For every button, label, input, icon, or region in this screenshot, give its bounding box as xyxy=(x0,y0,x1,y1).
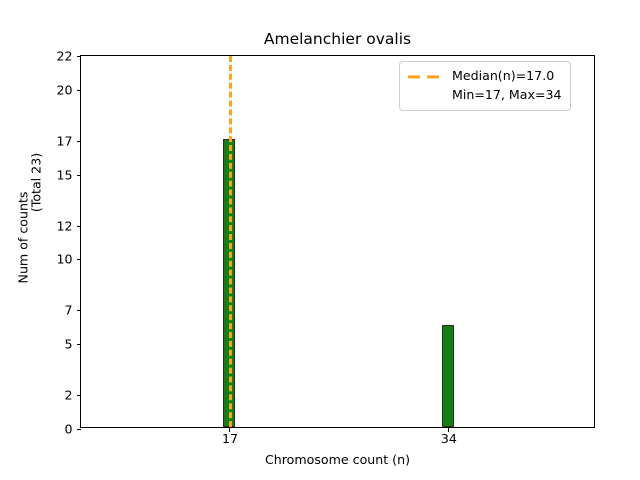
y-tick: 0 xyxy=(77,429,82,430)
legend-box[interactable]: Median(n)=17.0 Min=17, Max=34 xyxy=(399,61,571,111)
y-axis-label-total: (Total 23) xyxy=(29,93,44,273)
y-tick-label: 20 xyxy=(56,85,72,98)
y-tick: 5 xyxy=(77,344,82,345)
y-tick-label: 2 xyxy=(64,390,72,403)
y-tick: 7 xyxy=(77,310,82,311)
plot-area: 0257101215172022 1734 Median(n)=17.0 Min… xyxy=(80,55,595,428)
plot-inner xyxy=(81,56,594,427)
bar-34[interactable] xyxy=(442,325,454,427)
y-tick: 2 xyxy=(77,395,82,396)
y-tick: 10 xyxy=(77,259,82,260)
y-tick-label: 10 xyxy=(56,254,72,267)
median-line xyxy=(229,56,232,427)
x-tick-label: 34 xyxy=(441,433,457,446)
x-tick: 17 xyxy=(229,427,230,432)
y-tick-label: 15 xyxy=(56,169,72,182)
legend-label-median: Median(n)=17.0 xyxy=(452,70,554,83)
y-tick: 20 xyxy=(77,90,82,91)
legend-label-minmax: Min=17, Max=34 xyxy=(452,89,562,102)
y-tick: 12 xyxy=(77,226,82,227)
chart-title: Amelanchier ovalis xyxy=(80,30,595,48)
y-tick-label: 0 xyxy=(64,424,72,437)
y-tick: 22 xyxy=(77,56,82,57)
legend-item-minmax: Min=17, Max=34 xyxy=(407,86,562,105)
y-tick-label: 12 xyxy=(56,220,72,233)
legend-item-median: Median(n)=17.0 xyxy=(407,67,562,86)
x-axis-label: Chromosome count (n) xyxy=(80,452,595,467)
y-tick: 15 xyxy=(77,175,82,176)
y-tick-label: 5 xyxy=(64,339,72,352)
chart-figure: Amelanchier ovalis 0257101215172022 1734… xyxy=(0,0,640,480)
dashed-line-icon xyxy=(407,71,443,83)
y-tick-label: 17 xyxy=(56,135,72,148)
y-tick: 17 xyxy=(77,141,82,142)
y-tick-label: 7 xyxy=(64,305,72,318)
y-tick-label: 22 xyxy=(56,51,72,64)
x-tick: 34 xyxy=(448,427,449,432)
blank-marker-icon xyxy=(407,90,443,102)
x-tick-label: 17 xyxy=(222,433,238,446)
